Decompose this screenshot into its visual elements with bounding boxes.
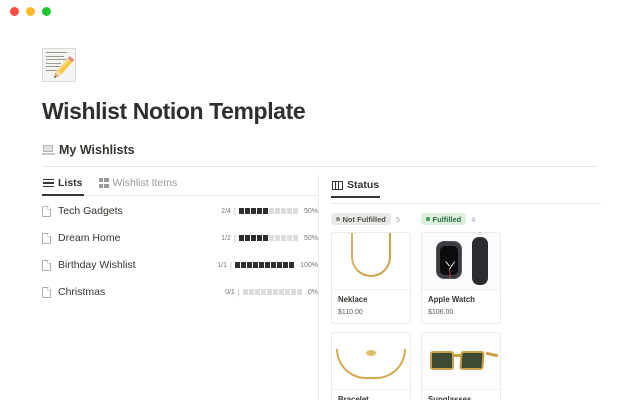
- zoom-button[interactable]: [42, 7, 51, 16]
- close-button[interactable]: [10, 7, 19, 16]
- group-header: Not Fulfilled 5: [331, 213, 411, 225]
- section-heading-label: My Wishlists: [59, 143, 135, 157]
- progress-separator: |: [234, 234, 236, 243]
- window-titlebar: [0, 0, 640, 22]
- tab-wishlist-items[interactable]: Wishlist Items: [98, 175, 179, 196]
- gold-necklace-photo: [332, 233, 410, 289]
- status-group-fulfilled: Fulfilled 4: [421, 213, 501, 400]
- status-badge-label: Not Fulfilled: [343, 215, 386, 224]
- card-title: Apple Watch: [428, 295, 494, 304]
- page-icon: [42, 287, 51, 298]
- tab-lists[interactable]: Lists: [42, 175, 84, 196]
- list-name: Christmas: [58, 286, 105, 298]
- status-dot-icon: [336, 217, 340, 221]
- progress-separator: |: [230, 261, 232, 270]
- tab-status[interactable]: Status: [331, 177, 380, 198]
- progress-bar: [239, 235, 298, 241]
- minimize-button[interactable]: [26, 7, 35, 16]
- section-heading: My Wishlists: [42, 143, 640, 157]
- list-item[interactable]: Bracelet $15.95: [331, 332, 411, 400]
- status-panel: Status Not Fulfilled 5: [318, 175, 640, 400]
- progress-percent: 100%: [300, 262, 318, 269]
- progress-bar: [239, 208, 298, 214]
- tab-wishlist-items-label: Wishlist Items: [113, 177, 178, 189]
- card-price: $110.00: [338, 309, 404, 316]
- page-icon: [42, 260, 51, 271]
- grid-icon: [99, 178, 109, 188]
- group-count: 5: [396, 215, 400, 224]
- status-groups: Not Fulfilled 5 Neklace $110.00: [331, 213, 640, 400]
- table-row[interactable]: Birthday Wishlist 1/1 | 100%: [42, 258, 318, 272]
- aviator-sunglasses-photo: [422, 333, 500, 389]
- progress-percent: 50%: [304, 208, 318, 215]
- progress-meta: 0/1 | 0%: [225, 288, 318, 297]
- list-item[interactable]: Sunglasses $182.00: [421, 332, 501, 400]
- list-name: Birthday Wishlist: [58, 259, 136, 271]
- status-badge[interactable]: Not Fulfilled: [331, 213, 391, 225]
- status-badge-label: Fulfilled: [433, 215, 462, 224]
- list-item[interactable]: Neklace $110.00: [331, 232, 411, 324]
- table-row[interactable]: Tech Gadgets 2/4 | 50%: [42, 204, 318, 218]
- tab-lists-label: Lists: [58, 177, 83, 189]
- list-lines-icon: [43, 179, 54, 188]
- section-divider: [42, 166, 598, 167]
- group-count: 4: [471, 215, 475, 224]
- laptop-icon: [42, 145, 55, 155]
- status-dot-icon: [426, 217, 430, 221]
- progress-fraction: 1/1: [217, 262, 227, 269]
- panels-container: Lists Wishlist Items Tech Gadgets 2/4 |: [0, 175, 640, 400]
- progress-bar: [235, 262, 294, 268]
- progress-meta: 1/2 | 50%: [221, 234, 318, 243]
- card-price: $106.00: [428, 309, 494, 316]
- lists-panel: Lists Wishlist Items Tech Gadgets 2/4 |: [0, 175, 318, 400]
- progress-fraction: 2/4: [221, 208, 231, 215]
- card-title: Neklace: [338, 295, 404, 304]
- progress-separator: |: [238, 288, 240, 297]
- pencil-icon: [49, 54, 77, 82]
- board-icon: [332, 181, 343, 190]
- lists-view-tabs: Lists Wishlist Items: [42, 175, 318, 196]
- list-name: Tech Gadgets: [58, 205, 123, 217]
- page-title: Wishlist Notion Template: [42, 98, 640, 125]
- memo-icon[interactable]: [42, 48, 76, 82]
- table-row[interactable]: Christmas 0/1 | 0%: [42, 285, 318, 299]
- list-name: Dream Home: [58, 232, 120, 244]
- page-content: Wishlist Notion Template My Wishlists Li…: [0, 48, 640, 400]
- card-title: Bracelet: [338, 395, 404, 400]
- progress-fraction: 0/1: [225, 289, 235, 296]
- page-icon: [42, 206, 51, 217]
- progress-separator: |: [234, 207, 236, 216]
- progress-meta: 1/1 | 100%: [217, 261, 318, 270]
- list-item[interactable]: Apple Watch $106.00: [421, 232, 501, 324]
- apple-watch-photo: [422, 233, 500, 289]
- progress-percent: 50%: [304, 235, 318, 242]
- status-group-not-fulfilled: Not Fulfilled 5 Neklace $110.00: [331, 213, 411, 400]
- wishlists-table: Tech Gadgets 2/4 | 50% Dream Home 1/2: [42, 204, 318, 299]
- progress-meta: 2/4 | 50%: [221, 207, 318, 216]
- status-badge[interactable]: Fulfilled: [421, 213, 466, 225]
- page-icon: [42, 233, 51, 244]
- card-title: Sunglasses: [428, 395, 494, 400]
- status-tabs-divider: [331, 203, 601, 204]
- tab-status-label: Status: [347, 179, 379, 191]
- gold-bracelet-photo: [332, 333, 410, 389]
- table-row[interactable]: Dream Home 1/2 | 50%: [42, 231, 318, 245]
- progress-fraction: 1/2: [221, 235, 231, 242]
- progress-bar: [243, 289, 302, 295]
- progress-percent: 0%: [308, 289, 318, 296]
- group-header: Fulfilled 4: [421, 213, 501, 225]
- status-view-tabs: Status: [331, 175, 640, 203]
